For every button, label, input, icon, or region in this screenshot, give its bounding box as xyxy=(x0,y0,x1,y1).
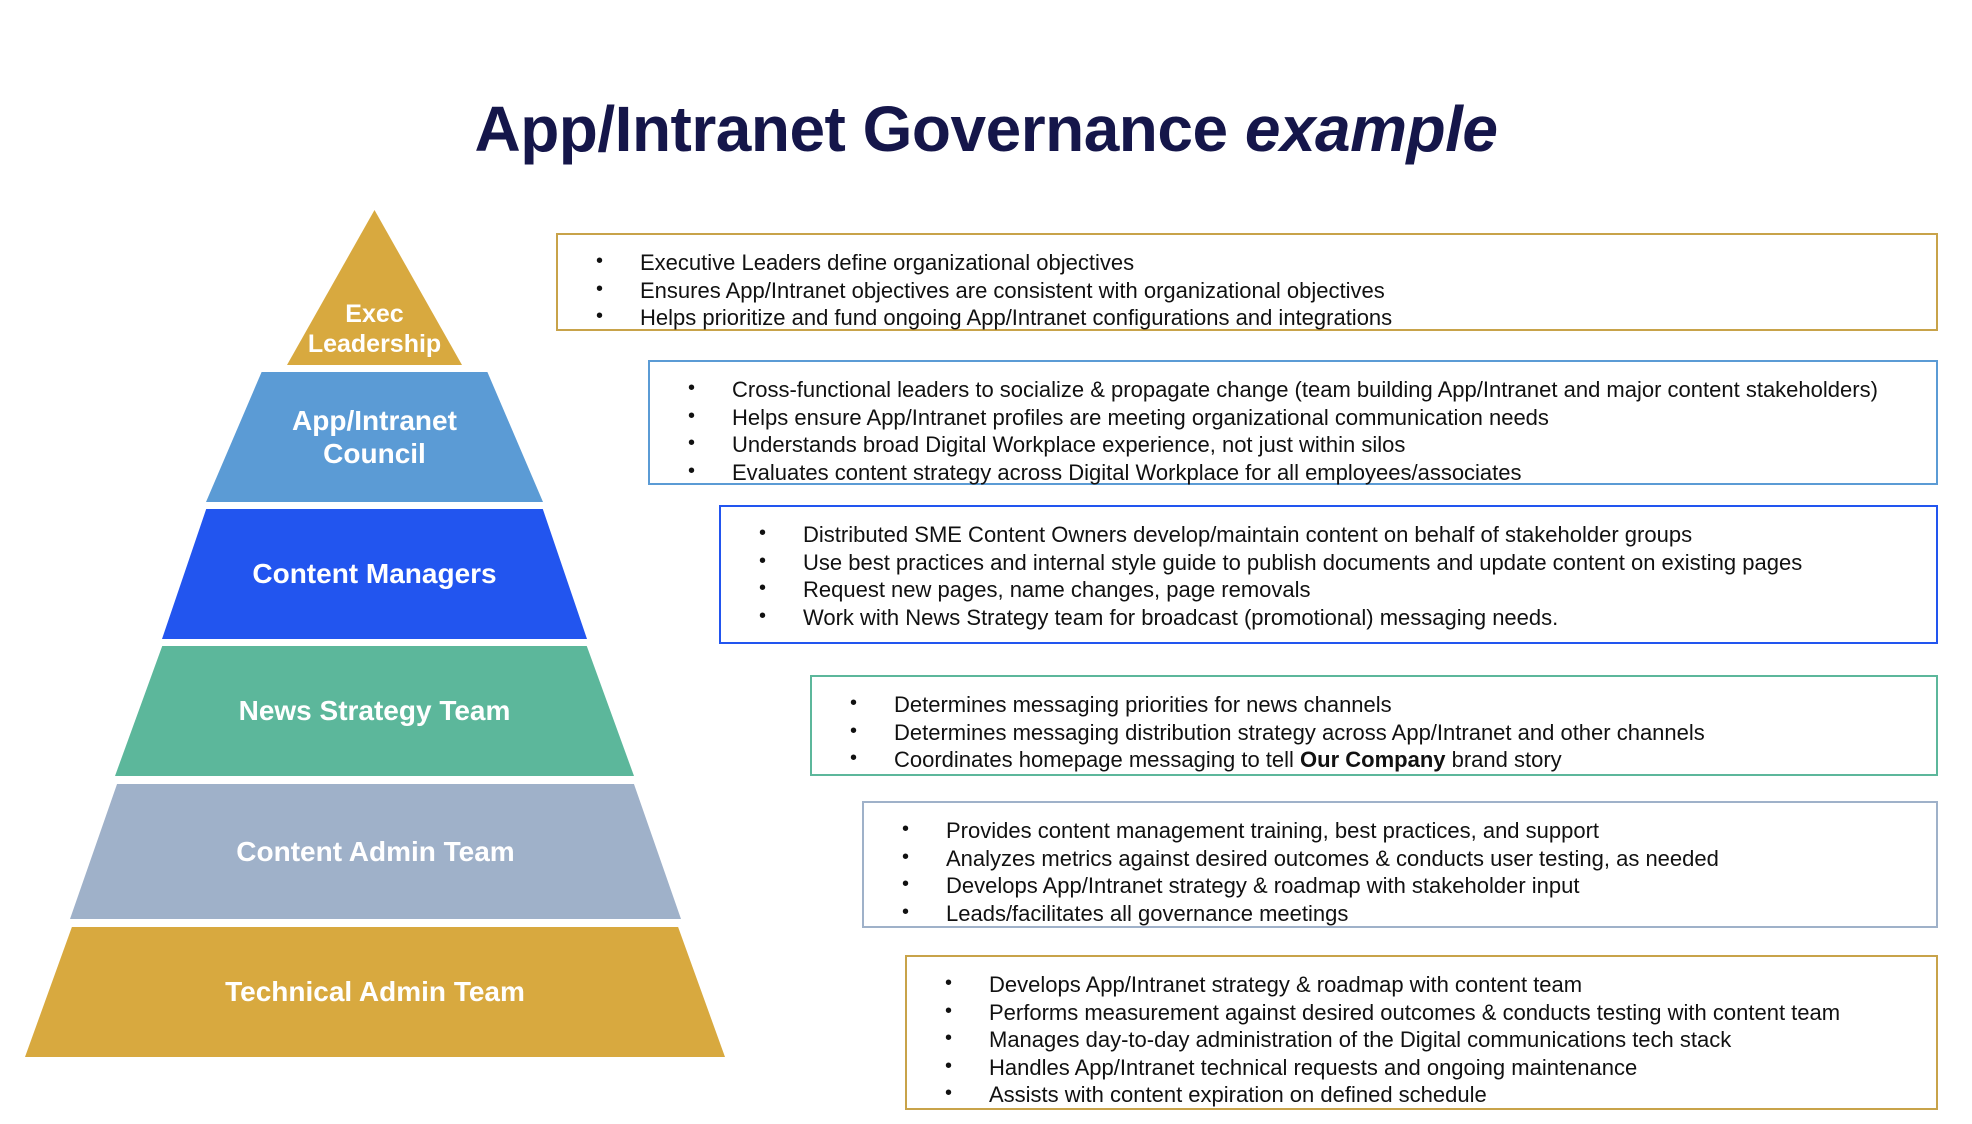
list-item: Work with News Strategy team for broadca… xyxy=(721,604,1926,632)
callout-bullet-list: Distributed SME Content Owners develop/m… xyxy=(721,521,1926,631)
tier-label-line2: Leadership xyxy=(308,330,441,358)
governance-pyramid: Exec Leadership App/Intranet Council Con… xyxy=(0,210,900,1100)
callout-technical-admin-team: Develops App/Intranet strategy & roadmap… xyxy=(905,955,1938,1110)
tier-label-line2: Council xyxy=(323,438,426,469)
list-item: Assists with content expiration on defin… xyxy=(907,1081,1926,1109)
pyramid-tier-news-strategy-team[interactable]: News Strategy Team xyxy=(115,646,634,776)
tier-label-content-managers: Content Managers xyxy=(252,557,496,590)
list-item: Analyzes metrics against desired outcome… xyxy=(864,845,1926,873)
list-item: Manages day-to-day administration of the… xyxy=(907,1026,1926,1054)
callout-app-intranet-council: Cross-functional leaders to socialize & … xyxy=(648,360,1938,485)
pyramid-tier-technical-admin-team[interactable]: Technical Admin Team xyxy=(25,927,725,1057)
pyramid-tier-content-managers[interactable]: Content Managers xyxy=(162,509,587,639)
tier-label-line1: Exec xyxy=(345,300,403,328)
pyramid-tier-exec-leadership[interactable]: Exec Leadership xyxy=(287,210,462,365)
tier-label-news-strategy-team: News Strategy Team xyxy=(239,694,511,727)
list-item: Leads/facilitates all governance meeting… xyxy=(864,900,1926,928)
tier-label-content-admin-team: Content Admin Team xyxy=(236,835,514,868)
list-item: Executive Leaders define organizational … xyxy=(558,249,1926,277)
tier-label-app-intranet-council: App/Intranet Council xyxy=(292,404,457,470)
governance-slide: App/Intranet Governance example Exec Lea… xyxy=(0,0,1972,1124)
callout-bullet-list: Provides content management training, be… xyxy=(864,817,1926,927)
callout-bullet-list: Cross-functional leaders to socialize & … xyxy=(650,376,1926,486)
list-item: Helps prioritize and fund ongoing App/In… xyxy=(558,304,1926,332)
list-item: Understands broad Digital Workplace expe… xyxy=(650,431,1926,459)
tier-label-line1: App/Intranet xyxy=(292,405,457,436)
pyramid-tier-app-intranet-council[interactable]: App/Intranet Council xyxy=(206,372,543,502)
callout-bullet-list: Executive Leaders define organizational … xyxy=(558,249,1926,332)
title-main: App/Intranet Governance xyxy=(474,93,1244,165)
callout-bullet-list: Determines messaging priorities for news… xyxy=(812,691,1926,774)
callout-exec-leadership: Executive Leaders define organizational … xyxy=(556,233,1938,331)
list-item: Ensures App/Intranet objectives are cons… xyxy=(558,277,1926,305)
callout-bullet-list: Develops App/Intranet strategy & roadmap… xyxy=(907,971,1926,1109)
callout-news-strategy-team: Determines messaging priorities for news… xyxy=(810,675,1938,776)
list-item: Coordinates homepage messaging to tell O… xyxy=(812,746,1926,774)
tier-label-exec-leadership: Exec Leadership xyxy=(308,300,441,359)
list-item: Develops App/Intranet strategy & roadmap… xyxy=(864,872,1926,900)
pyramid-tier-content-admin-team[interactable]: Content Admin Team xyxy=(70,784,681,919)
list-item: Request new pages, name changes, page re… xyxy=(721,576,1926,604)
callout-content-admin-team: Provides content management training, be… xyxy=(862,801,1938,928)
list-item: Cross-functional leaders to socialize & … xyxy=(650,376,1926,404)
list-item: Distributed SME Content Owners develop/m… xyxy=(721,521,1926,549)
tier-label-technical-admin-team: Technical Admin Team xyxy=(225,975,525,1008)
list-item: Develops App/Intranet strategy & roadmap… xyxy=(907,971,1926,999)
list-item: Use best practices and internal style gu… xyxy=(721,549,1926,577)
page-title: App/Intranet Governance example xyxy=(0,92,1972,166)
list-item: Performs measurement against desired out… xyxy=(907,999,1926,1027)
list-item: Helps ensure App/Intranet profiles are m… xyxy=(650,404,1926,432)
title-emphasis: example xyxy=(1245,93,1498,165)
list-item: Handles App/Intranet technical requests … xyxy=(907,1054,1926,1082)
list-item: Provides content management training, be… xyxy=(864,817,1926,845)
list-item: Determines messaging priorities for news… xyxy=(812,691,1926,719)
callout-content-managers: Distributed SME Content Owners develop/m… xyxy=(719,505,1938,644)
list-item: Determines messaging distribution strate… xyxy=(812,719,1926,747)
list-item: Evaluates content strategy across Digita… xyxy=(650,459,1926,487)
